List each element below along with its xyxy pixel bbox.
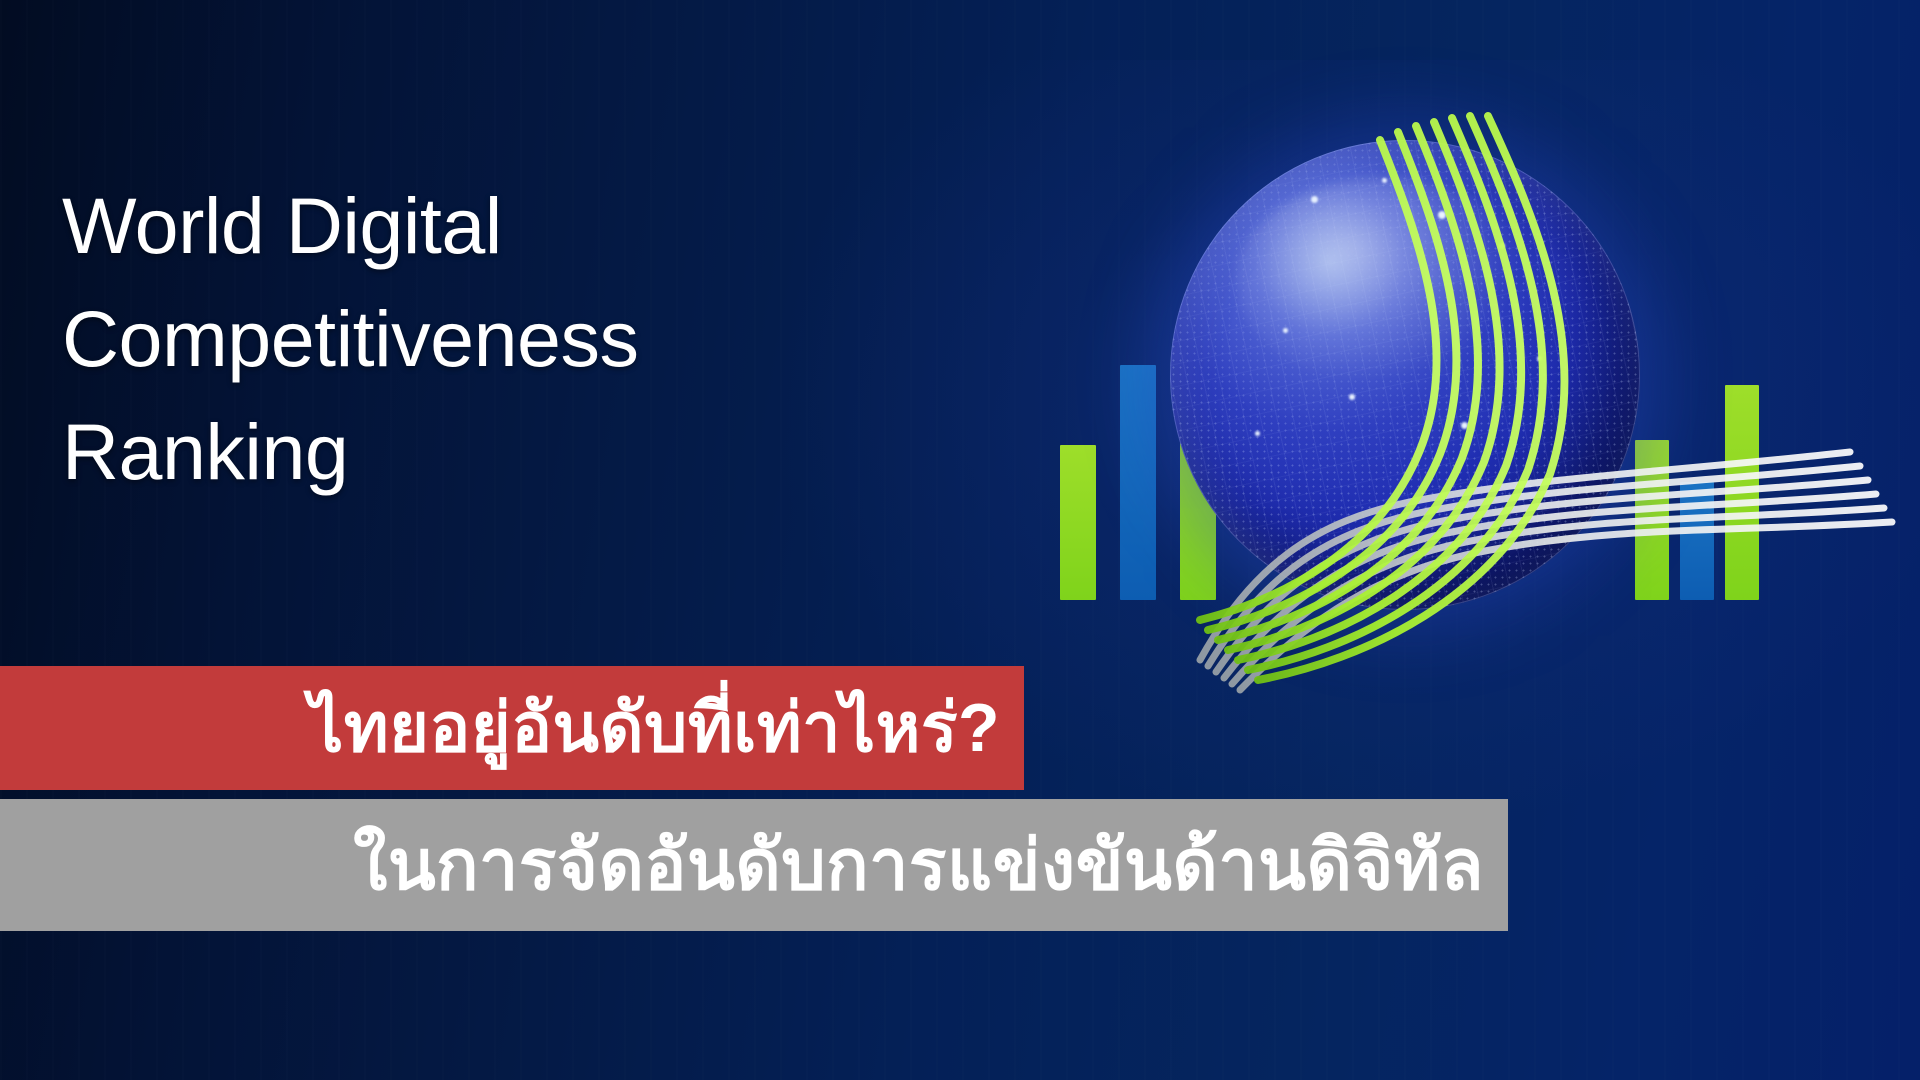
thai-subtitle-band: ในการจัดอันดับการแข่งขันด้านดิจิทัล [0,799,1508,931]
banner-canvas: World Digital Competitiveness Ranking [0,0,1920,1080]
fiber-bundle-green [1200,116,1565,680]
fiber-optic-strands [950,100,1920,700]
thai-subtitle-text: ในการจัดอันดับการแข่งขันด้านดิจิทัล [353,830,1484,900]
digital-globe-graphic [1020,110,1920,670]
thai-question-band: ไทยอยู่อันดับที่เท่าไหร่? [0,666,1024,790]
thai-question-text: ไทยอยู่อันดับที่เท่าไหร่? [309,694,1000,762]
page-title: World Digital Competitiveness Ranking [62,170,962,509]
